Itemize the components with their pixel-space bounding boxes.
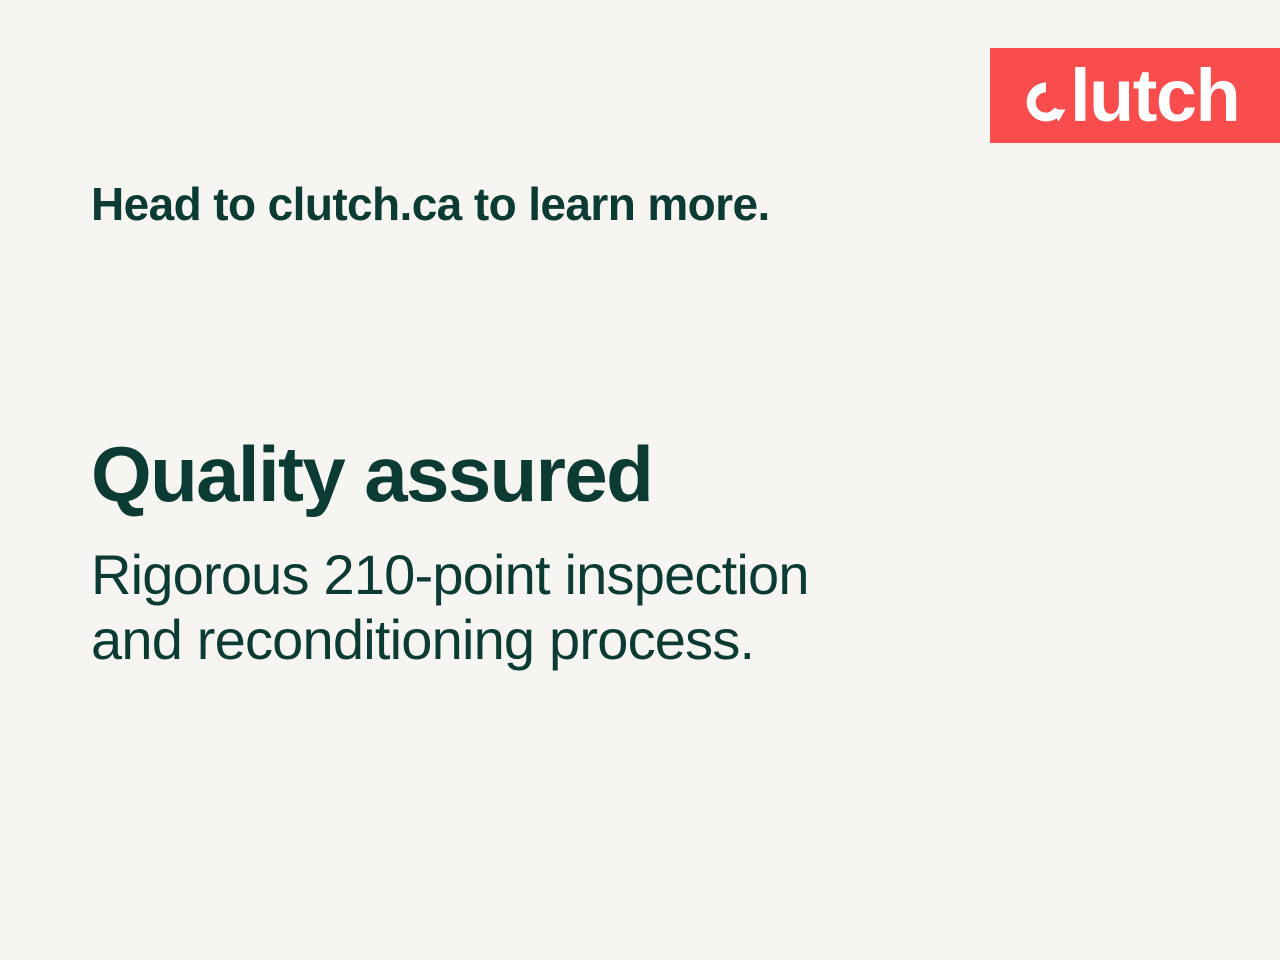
brand-banner: lutch <box>990 48 1280 143</box>
clutch-wordmark: lutch <box>1070 67 1239 125</box>
slide-canvas: lutch Head to clutch.ca to learn more. Q… <box>0 0 1280 960</box>
clutch-c-mark-icon <box>1025 81 1067 123</box>
kicker-text: Head to clutch.ca to learn more. <box>91 178 770 231</box>
subcopy-text: Rigorous 210-point inspection and recond… <box>91 543 809 673</box>
subcopy-line: Rigorous 210-point inspection <box>91 543 809 608</box>
subcopy-line: and reconditioning process. <box>91 608 809 673</box>
clutch-logo[interactable]: lutch <box>1025 67 1239 125</box>
page-title: Quality assured <box>91 434 652 516</box>
